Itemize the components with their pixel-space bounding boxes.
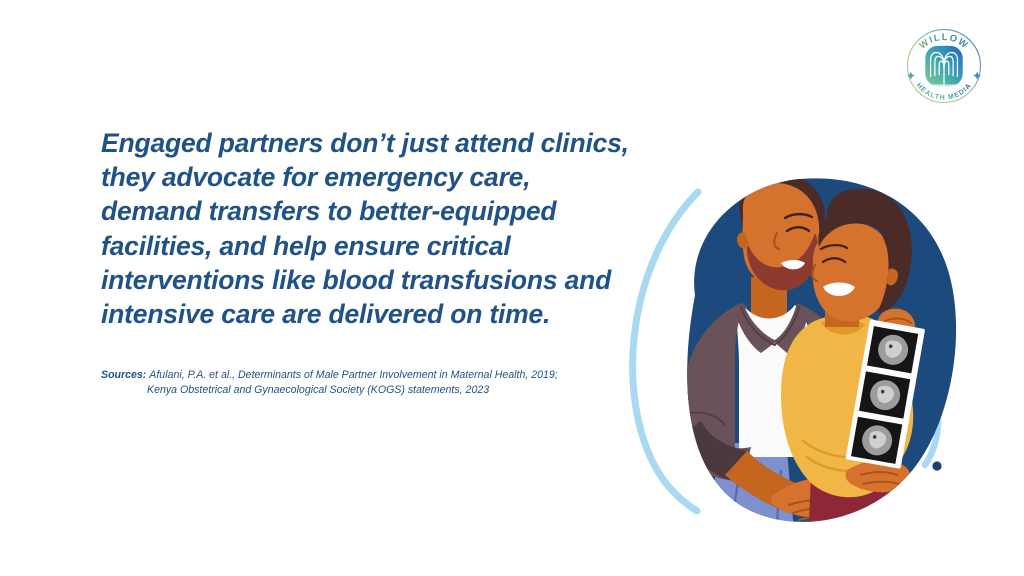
slide-canvas: WILLOW HEALTH MEDIA Engaged partners don… [0, 0, 1024, 576]
logo-emblem [925, 46, 962, 86]
headline-quote: Engaged partners don’t just attend clini… [101, 126, 631, 331]
accent-dot [932, 461, 941, 470]
sources-text: Afulani, P.A. et al., Determinants of Ma… [147, 369, 558, 396]
couple-ultrasound-illustration [575, 145, 1015, 576]
willow-health-media-logo[interactable]: WILLOW HEALTH MEDIA [896, 18, 992, 114]
sources-citation: Sources: Afulani, P.A. et al., Determina… [101, 368, 571, 399]
ultrasound-frame-1 [867, 326, 918, 373]
ultrasound-frame-3 [851, 417, 902, 464]
sources-label: Sources: [101, 369, 146, 381]
ultrasound-frame-2 [859, 371, 910, 418]
